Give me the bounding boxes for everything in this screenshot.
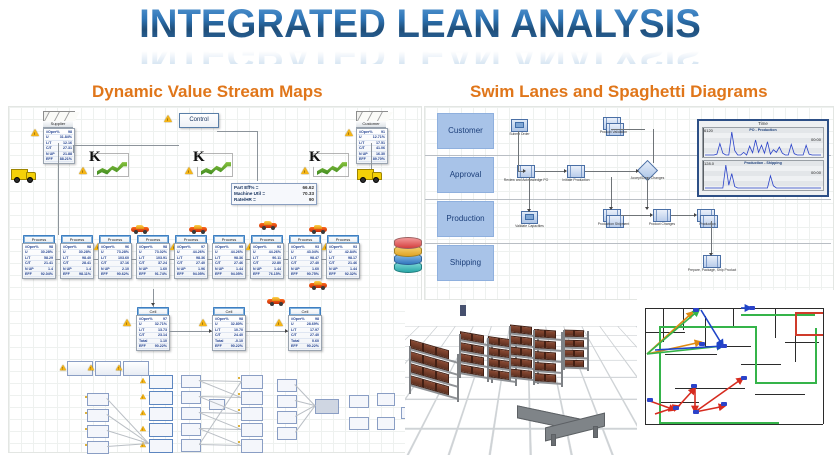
data-row: EFF90.22%: [290, 344, 320, 349]
page-title: INTEGRATED LEAN ANALYSIS: [17, 2, 823, 46]
cell-label: Cell: [213, 307, 245, 315]
subnet-node[interactable]: [241, 375, 263, 389]
conveyor-leg: [593, 426, 598, 438]
data-value: 10.70: [234, 328, 243, 332]
data-key: U: [253, 250, 256, 254]
subnet-tab[interactable]: [123, 361, 149, 376]
data-key: #Oper%: [177, 245, 191, 249]
data-key: U: [329, 250, 332, 254]
path-marker: [693, 308, 699, 312]
data-key: U: [139, 322, 142, 326]
data-key: U: [25, 250, 28, 254]
process-node[interactable]: Process #Oper%97U44.26%L/T98.36C/T27.40N…: [175, 235, 208, 279]
data-key: U: [139, 250, 142, 254]
data-key: L/T: [25, 256, 30, 260]
data-value: 1.44: [236, 267, 243, 271]
subnet-node[interactable]: [181, 439, 201, 452]
data-value: 73.02%: [155, 250, 167, 254]
data-value: 92.04%: [41, 272, 53, 276]
subnet-node[interactable]: [181, 407, 201, 420]
data-key: #Oper%: [63, 245, 77, 249]
data-value: 98.47: [310, 256, 319, 260]
pallet-rack: [563, 350, 589, 360]
data-key: EFF: [101, 272, 108, 276]
data-value: 88.21%: [60, 157, 72, 161]
swimlane-node[interactable]: Initiate Production: [567, 165, 585, 178]
subnet-node[interactable]: [377, 393, 395, 406]
path-marker: [721, 402, 727, 406]
subnet-node[interactable]: [277, 379, 297, 392]
data-value: 1.60: [160, 267, 167, 271]
data-key: L/T: [329, 256, 334, 260]
swimlane-label-production[interactable]: Production: [437, 201, 494, 237]
car-icon: [267, 297, 285, 305]
storage-box: [510, 369, 521, 378]
process-label: Process: [61, 235, 93, 243]
data-value: 90.11: [272, 256, 281, 260]
process-label: Process: [327, 235, 359, 243]
data-value: 1.4: [48, 267, 53, 271]
data-value: 95: [239, 245, 243, 249]
data-key: C/T: [215, 261, 221, 265]
process-data-box: #Oper%98U30.28%L/T58.29C/T21.41N UP1.4EF…: [22, 243, 56, 279]
data-key: N UP: [177, 267, 186, 271]
data-key: EFF: [215, 344, 222, 348]
data-key: C/T: [139, 261, 145, 265]
data-key: L/T: [101, 256, 106, 260]
data-value: 98.36: [234, 256, 243, 260]
cell-node[interactable]: Cell #Oper%97U32.71%L/T13.73C/T23.14Tota…: [137, 307, 170, 351]
data-key: EFF: [329, 272, 336, 276]
warning-triangle-icon: [345, 129, 353, 136]
subnet-node[interactable]: [277, 411, 297, 424]
data-key: EFF: [359, 157, 366, 161]
data-key: L/T: [46, 141, 51, 145]
truck-icon: [357, 169, 381, 182]
data-value: -0.10: [235, 339, 243, 343]
data-key: L/T: [253, 256, 258, 260]
data-key: L/T: [177, 256, 182, 260]
data-key: #Oper%: [329, 245, 343, 249]
swimlane-label-customer[interactable]: Customer: [437, 113, 494, 149]
data-value: 103.60: [118, 256, 129, 260]
subnet-node[interactable]: [349, 417, 369, 430]
data-value: 92.32%: [345, 272, 357, 276]
data-value: 90.75%: [307, 272, 319, 276]
subnet-node[interactable]: [149, 375, 173, 389]
path-marker: [693, 410, 699, 414]
process-label: Process: [99, 235, 131, 243]
swimlane-node-label: Prepare, Package, Ship Product: [688, 268, 736, 272]
data-key: EFF: [139, 344, 146, 348]
data-key: U: [215, 322, 218, 326]
storage-box: [545, 352, 556, 361]
data-key: L/T: [215, 328, 220, 332]
subnet-node[interactable]: [377, 417, 395, 430]
data-value: 16.30: [376, 152, 385, 156]
storage-box: [488, 369, 499, 379]
storage-box: [545, 341, 556, 350]
data-value: 1.60: [312, 267, 319, 271]
data-value: 32.80%: [231, 322, 243, 326]
data-value: 17.51: [376, 141, 385, 145]
process-node[interactable]: Process #Oper%98U73.02%L/T103.91C/T37.24…: [137, 235, 170, 279]
data-value: 17.97: [310, 328, 319, 332]
process-data-box: #Oper%96U73.28%L/T103.60C/T37.16N UP2.10…: [98, 243, 132, 279]
swimlane-node[interactable]: Accept/Deny Changes: [640, 163, 655, 178]
data-key: C/T: [25, 261, 31, 265]
chart-y-max-label: 6120: [704, 128, 713, 133]
subnet-node[interactable]: [87, 425, 109, 438]
path-marker: [691, 384, 697, 388]
warning-triangle-icon: [79, 167, 87, 174]
data-value: 12.16: [63, 141, 72, 145]
swimlane-label-approval[interactable]: Approval: [437, 157, 494, 193]
subnet-merge-node[interactable]: [315, 399, 339, 414]
production-control-box[interactable]: Control: [179, 113, 219, 128]
storage-box: [534, 351, 545, 360]
slide-title-block: INTEGRATED LEAN ANALYSIS INTEGRATED LEAN…: [0, 2, 840, 66]
data-key: #Oper%: [291, 245, 305, 249]
process-node[interactable]: Process #Oper%95U44.26%L/T98.36C/T27.46N…: [213, 235, 246, 279]
data-value: 43.04%: [307, 250, 319, 254]
spaghetti-diagram[interactable]: [637, 290, 840, 455]
swimlane-node-label: Review and Acknowledge PO: [504, 178, 548, 182]
data-key: U: [215, 250, 218, 254]
data-key: EFF: [139, 272, 146, 276]
customer-node[interactable]: Customer #Oper%91U12.71%L/T17.51C/T41.06…: [356, 111, 388, 164]
car-icon: [131, 225, 149, 233]
data-key: EFF: [177, 272, 184, 276]
slide-canvas: INTEGRATED LEAN ANALYSIS INTEGRATED LEAN…: [0, 0, 840, 455]
storage-box: [574, 360, 584, 367]
data-value: 98: [68, 130, 72, 134]
swimlane-label-shipping[interactable]: Shipping: [437, 245, 494, 281]
factory-icon: [356, 111, 388, 121]
data-key: C/T: [139, 333, 145, 337]
pallet-rack: [533, 329, 563, 341]
path-marker: [749, 306, 755, 310]
value-stream-map-panel[interactable]: Supplier #Oper%98U31.84%L/T12.16C/T27.31…: [8, 106, 422, 453]
data-row: EFF91.74%: [138, 272, 168, 277]
process-box-icon: [567, 165, 585, 178]
data-key: Total: [215, 339, 223, 343]
data-value: 32.71%: [155, 322, 167, 326]
data-key: C/T: [291, 261, 297, 265]
chart-time-label: 00:00: [811, 170, 821, 175]
data-value: 27.40: [310, 333, 319, 337]
supplier-data-box: #Oper%98U31.84%L/T12.16C/T27.31N UP21.88…: [43, 128, 75, 164]
storage-box: [521, 337, 532, 346]
data-key: N UP: [329, 267, 338, 271]
swimlane-node-label: Production Shipment: [598, 222, 629, 226]
cell-node[interactable]: Cell #Oper%98U32.80%L/T10.70C/T24.40Tota…: [213, 307, 246, 351]
data-value: 90.22%: [155, 344, 167, 348]
storage-box: [510, 347, 521, 356]
data-key: L/T: [139, 328, 144, 332]
supplier-node[interactable]: Supplier #Oper%98U31.84%L/T12.16C/T27.31…: [43, 111, 75, 164]
data-key: L/T: [291, 256, 296, 260]
warning-triangle-icon: [31, 129, 39, 136]
conveyor-leg: [551, 434, 556, 446]
data-value: 22.80: [272, 261, 281, 265]
storage-box: [534, 340, 545, 349]
process-data-box: #Oper%98U30.28%L/T98.40C/T28.41N UP1.4EF…: [60, 243, 94, 279]
data-value: 97: [163, 317, 167, 321]
process-node[interactable]: Process #Oper%93U44.26%L/T90.11C/T22.80N…: [251, 235, 284, 279]
path-marker: [647, 398, 653, 402]
data-value: 41.06: [376, 146, 385, 150]
section-heading-vsm: Dynamic Value Stream Maps: [92, 82, 323, 102]
data-key: #Oper%: [46, 130, 60, 134]
storage-box: [574, 350, 584, 357]
data-key: U: [63, 250, 66, 254]
data-key: C/T: [359, 146, 365, 150]
data-value: 93: [353, 245, 357, 249]
warehouse-3d-simulation[interactable]: [405, 300, 637, 455]
subnet-node[interactable]: [149, 407, 173, 421]
data-key: N UP: [215, 267, 224, 271]
data-value: 93: [277, 245, 281, 249]
storage-box: [545, 330, 556, 339]
data-value: 98.17: [348, 256, 357, 260]
data-key: L/T: [63, 256, 68, 260]
data-value: 98.40: [82, 256, 91, 260]
process-data-box: #Oper%98U73.02%L/T103.91C/T37.24N UP1.60…: [136, 243, 170, 279]
data-key: C/T: [63, 261, 69, 265]
data-key: C/T: [177, 261, 183, 265]
data-value: 0.60: [312, 339, 319, 343]
data-key: C/T: [291, 333, 297, 337]
metric-row: Rate/HR =90: [234, 197, 314, 203]
swimlane-node[interactable]: Production Shipment: [603, 209, 624, 228]
swimlane-node[interactable]: Product Changes: [653, 209, 671, 222]
data-key: N UP: [101, 267, 110, 271]
warning-triangle-icon: [301, 167, 309, 174]
subnet-node[interactable]: [241, 439, 263, 453]
data-value: 44.26%: [269, 250, 281, 254]
database-cylinder-icon: [394, 237, 420, 271]
subnet-node[interactable]: [349, 395, 369, 408]
swimlane-node-label: Product Validation: [600, 130, 627, 134]
data-row: EFF98.11%: [62, 272, 92, 277]
data-value: 90.62%: [117, 272, 129, 276]
subnet-node[interactable]: [149, 423, 173, 437]
data-value: 30.28%: [41, 250, 53, 254]
subnet-node[interactable]: [181, 423, 201, 436]
data-key: L/T: [139, 256, 144, 260]
process-node[interactable]: Process #Oper%98U30.28%L/T98.40C/T28.41N…: [61, 235, 94, 279]
swimlane-node-label: Production: [699, 222, 715, 226]
data-value: 97: [201, 245, 205, 249]
metrics-panel: Part Eff% =66.62Machine Util =70.33Rate/…: [231, 183, 317, 205]
pallet-rack: [563, 330, 589, 340]
car-icon: [189, 225, 207, 233]
data-key: L/T: [359, 141, 364, 145]
storage-box: [564, 330, 574, 337]
subnet-node[interactable]: [87, 393, 109, 406]
data-row: EFF92.04%: [24, 272, 54, 277]
subnet-node[interactable]: [149, 391, 173, 405]
kanban-k-icon: K: [87, 151, 129, 179]
cell-label: Cell: [137, 307, 169, 315]
subnet-node[interactable]: [181, 391, 201, 404]
storage-box: [521, 326, 532, 335]
swimlane-node-label: Product Changes: [649, 222, 675, 226]
chart-po-production: 6120 PO - Production 00:00: [702, 127, 824, 158]
data-key: C/T: [215, 333, 221, 337]
process-node[interactable]: Process #Oper%93U43.04%L/T98.47C/T27.40N…: [289, 235, 322, 279]
storage-box: [564, 340, 574, 347]
data-value: 24.40: [234, 333, 243, 337]
data-value: 96: [125, 245, 129, 249]
data-value: 27.40: [310, 261, 319, 265]
process-data-box: #Oper%97U44.26%L/T98.36C/T27.40N UP1.96E…: [174, 243, 208, 279]
data-key: C/T: [329, 261, 335, 265]
supplier-label: Supplier: [43, 121, 73, 128]
swimlane-node-label: Validate Capacities: [515, 224, 544, 228]
data-key: C/T: [253, 261, 259, 265]
data-key: U: [291, 322, 294, 326]
storage-box: [488, 336, 499, 346]
swimlane-node[interactable]: Validate Capacities: [521, 211, 538, 224]
process-node[interactable]: Process #Oper%98U30.28%L/T58.29C/T21.41N…: [23, 235, 56, 279]
data-key: Total: [139, 339, 147, 343]
data-key: EFF: [291, 272, 298, 276]
data-key: #Oper%: [359, 130, 373, 134]
storage-box: [488, 347, 499, 357]
data-value: 28.41: [82, 261, 91, 265]
section-heading-swimlanes: Swim Lanes and Spaghetti Diagrams: [470, 82, 768, 102]
data-key: EFF: [46, 157, 53, 161]
storage-box: [545, 374, 556, 383]
data-value: 2.10: [122, 267, 129, 271]
subnet-node[interactable]: [181, 375, 201, 388]
data-row: EFF94.05%: [176, 272, 206, 277]
storage-box: [521, 370, 532, 379]
process-data-box: #Oper%95U44.26%L/T98.36C/T27.46N UP1.44E…: [212, 243, 246, 279]
process-label: Process: [175, 235, 207, 243]
process-box-icon: [653, 209, 671, 222]
subnet-node[interactable]: [87, 441, 109, 454]
data-row: EFF90.22%: [214, 344, 244, 349]
kanban-k-icon: K: [307, 151, 349, 179]
data-value: 98: [49, 245, 53, 249]
data-value: 21.41: [44, 261, 53, 265]
data-key: #Oper%: [101, 245, 115, 249]
data-value: 30.28%: [79, 250, 91, 254]
data-value: 91.74%: [155, 272, 167, 276]
data-key: EFF: [291, 344, 298, 348]
data-value: 98: [163, 245, 167, 249]
data-key: EFF: [25, 272, 32, 276]
subnet-node[interactable]: [241, 391, 263, 405]
data-key: N UP: [139, 267, 148, 271]
data-value: 98: [315, 317, 319, 321]
data-key: EFF: [63, 272, 70, 276]
process-label: Process: [213, 235, 245, 243]
chart-production-shipping: 128.0 Production - Shipping 00:00: [702, 160, 824, 191]
process-label: Process: [23, 235, 55, 243]
data-value: 27.40: [196, 261, 205, 265]
data-value: 98.36: [196, 256, 205, 260]
storage-box: [510, 325, 521, 334]
data-row: EFF94.05%: [214, 272, 244, 277]
subnet-node[interactable]: [241, 407, 263, 421]
data-value: 37.24: [158, 261, 167, 265]
data-key: U: [177, 250, 180, 254]
process-label: Process: [289, 235, 321, 243]
data-value: 98: [239, 317, 243, 321]
data-value: 1.96: [198, 267, 205, 271]
swimlane-node-label: Initiate Production: [562, 178, 589, 182]
process-node[interactable]: Process #Oper%93U42.84%L/T98.17C/T21.46N…: [327, 235, 360, 279]
customer-label: Customer: [356, 121, 386, 128]
subnet-node[interactable]: [277, 395, 297, 408]
storage-box: [574, 330, 584, 337]
data-value: 91: [381, 130, 385, 134]
movement-paths: [645, 302, 835, 442]
process-data-box: #Oper%93U43.04%L/T98.47C/T27.40N UP1.60E…: [288, 243, 322, 279]
data-key: C/T: [46, 146, 52, 150]
subnet-node[interactable]: [149, 439, 173, 453]
swimlane-node[interactable]: Production: [697, 209, 718, 228]
data-value: 98: [87, 245, 91, 249]
subnet-node[interactable]: [87, 409, 109, 422]
subnet-node[interactable]: [277, 427, 297, 440]
storage-box: [488, 358, 499, 368]
data-value: 1.4: [86, 267, 91, 271]
cell-node[interactable]: Cell #Oper%98U28.69%L/T17.97C/T27.40Tota…: [289, 307, 322, 351]
data-value: 58.29: [44, 256, 53, 260]
data-key: N UP: [63, 267, 72, 271]
kanban-k-icon: K: [191, 151, 233, 179]
swimlane-node-label: Submit Order: [509, 132, 529, 136]
data-key: L/T: [291, 328, 296, 332]
swimlane-node[interactable]: Product Validation: [603, 117, 624, 136]
data-value: 13.73: [158, 328, 167, 332]
cell-data-box: #Oper%98U32.80%L/T10.70C/T24.40Total-0.1…: [212, 315, 246, 351]
data-value: 42.84%: [345, 250, 357, 254]
storage-box: [545, 363, 556, 372]
path-marker: [721, 344, 727, 348]
data-value: 28.69%: [307, 322, 319, 326]
cell-data-box: #Oper%97U32.71%L/T13.73C/T23.14Total1.10…: [136, 315, 170, 351]
data-key: N UP: [46, 152, 55, 156]
car-icon: [309, 281, 327, 289]
data-value: 21.88: [63, 152, 72, 156]
pallet-rack: [533, 340, 563, 352]
data-row: EFF90.62%: [100, 272, 130, 277]
throughput-chart-panel[interactable]: Time 6120 PO - Production 00:00 128.0 Pr…: [697, 119, 829, 197]
swimlane-node[interactable]: Prepare, Package, Ship Product: [703, 255, 721, 268]
path-marker: [741, 376, 747, 380]
data-value: 90.22%: [307, 344, 319, 348]
pallet-rack: [533, 373, 563, 385]
process-node[interactable]: Process #Oper%96U73.28%L/T103.60C/T37.16…: [99, 235, 132, 279]
data-row: EFF88.21%: [45, 157, 73, 162]
swimlane-node[interactable]: Submit Order: [511, 119, 528, 132]
car-icon: [309, 225, 327, 233]
data-value: 89.70%: [373, 157, 385, 161]
subnet-node[interactable]: [241, 423, 263, 437]
process-screen-icon: [521, 211, 538, 224]
process-data-box: #Oper%93U44.26%L/T90.11C/T22.80N UP1.44E…: [250, 243, 284, 279]
data-value: 12.71%: [373, 135, 385, 139]
data-value: 31.84%: [60, 135, 72, 139]
storage-box: [534, 362, 545, 371]
floor-plan: [645, 302, 835, 442]
